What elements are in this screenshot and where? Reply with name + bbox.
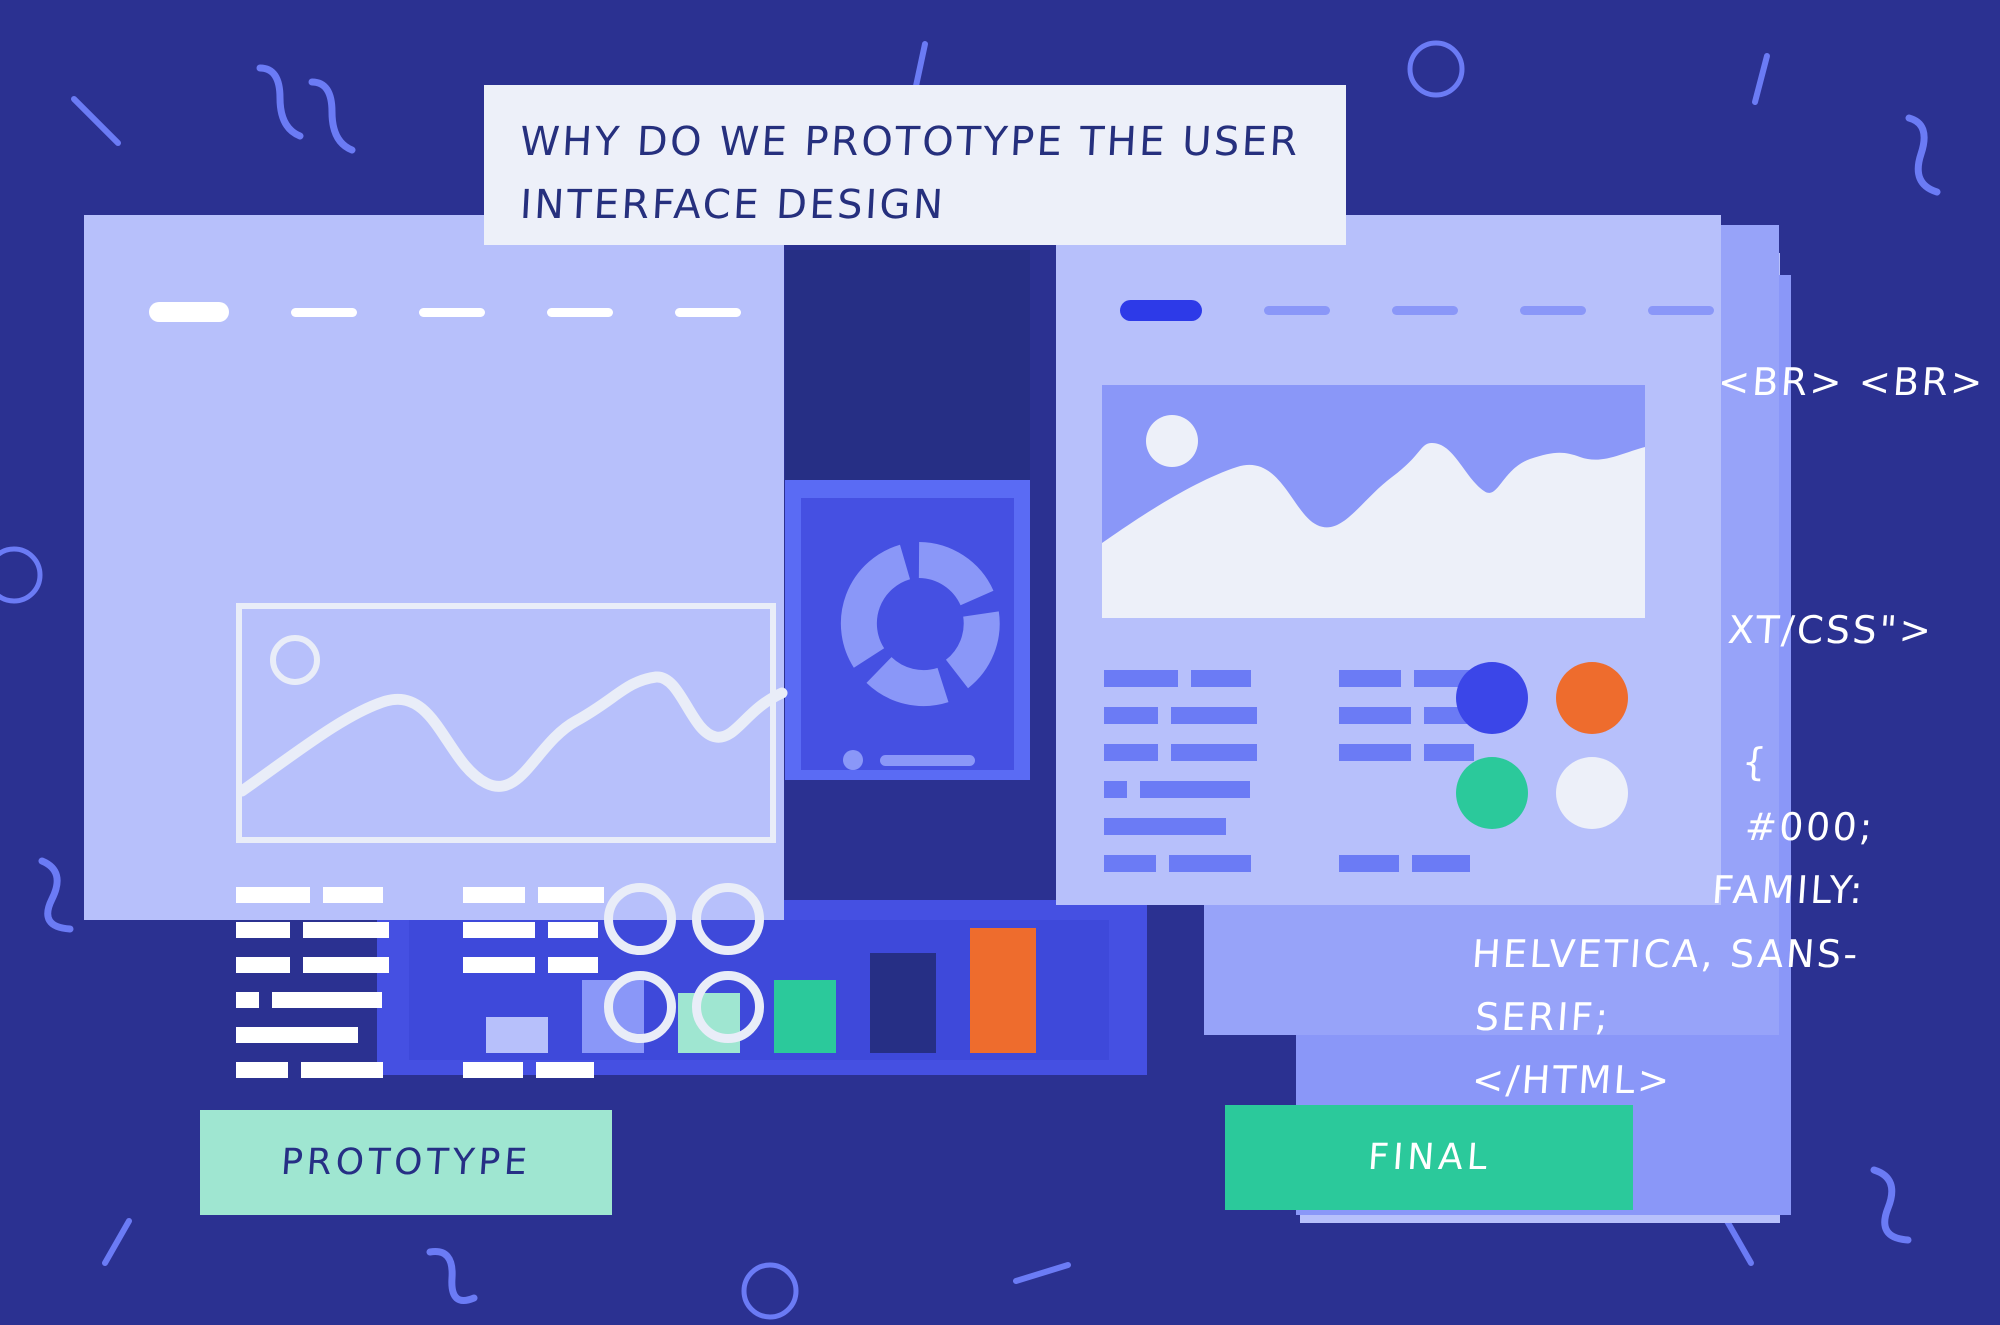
prototype-swatch-outlines [604, 883, 782, 1053]
text-segment [463, 887, 525, 903]
text-segment [1339, 855, 1399, 872]
text-segment [1171, 744, 1257, 761]
nav-link-bar[interactable] [291, 308, 357, 317]
text-segment [463, 957, 535, 973]
text-segment [548, 957, 598, 973]
circle-outline-decoration [740, 1255, 800, 1315]
text-segment [236, 922, 290, 938]
dash-decoration [1745, 52, 1781, 112]
text-line [463, 957, 604, 973]
final-hero-image [1102, 385, 1645, 618]
text-segment [1169, 855, 1251, 872]
code-line: { [1740, 740, 1770, 784]
title-card: WHY DO WE PROTOTYPE THE USER INTERFACE D… [484, 85, 1346, 245]
text-segment [1104, 670, 1178, 687]
text-line [236, 1062, 389, 1078]
text-line [1104, 855, 1257, 872]
text-block-column [236, 887, 389, 1078]
nav-active-pill[interactable] [1120, 300, 1202, 321]
prototype-navbar [149, 302, 741, 322]
donut-legend-bar [880, 755, 975, 766]
text-block-column [1104, 670, 1257, 872]
text-segment [548, 922, 598, 938]
text-line [463, 922, 604, 938]
text-segment [323, 887, 383, 903]
text-segment [536, 1062, 594, 1078]
color-swatch-royal-blue[interactable] [1456, 662, 1528, 734]
prototype-label: PROTOTYPE [200, 1110, 612, 1215]
text-segment [236, 887, 310, 903]
color-swatch-white[interactable] [1556, 757, 1628, 829]
nav-link-bar[interactable] [1520, 306, 1586, 315]
text-segment [1191, 670, 1251, 687]
squiggle-decoration [420, 1240, 490, 1310]
nav-link-bar[interactable] [419, 308, 485, 317]
nav-link-bar[interactable] [1392, 306, 1458, 315]
code-line: XT/CSS"> [1726, 608, 1935, 652]
code-line: HELVETICA, SANS- [1470, 932, 1861, 976]
prototype-label-text: PROTOTYPE [280, 1142, 533, 1183]
circle-outline[interactable] [604, 883, 676, 955]
final-color-swatches [1456, 662, 1638, 836]
final-navbar [1120, 300, 1714, 321]
donut-legend-dot [843, 750, 863, 770]
palette-swatch-emerald[interactable] [774, 980, 836, 1053]
nav-link-bar[interactable] [547, 308, 613, 317]
dash-decoration [1715, 1215, 1765, 1275]
text-segment [301, 1062, 383, 1078]
code-line: SERIF; [1473, 995, 1611, 1039]
title-line-2: INTERFACE DESIGN [518, 174, 1317, 237]
circle-outline-decoration [1405, 38, 1467, 100]
text-line [463, 1027, 604, 1043]
text-segment [303, 957, 389, 973]
text-segment [272, 992, 382, 1008]
text-line [463, 887, 604, 903]
text-segment [463, 1062, 523, 1078]
squiggle-decoration [250, 60, 370, 175]
text-line [1104, 707, 1257, 724]
nav-active-pill[interactable] [149, 302, 229, 322]
squiggle-decoration [1895, 110, 1965, 200]
text-line [463, 992, 604, 1008]
text-line [1104, 781, 1257, 798]
title-line-1: WHY DO WE PROTOTYPE THE USER [518, 111, 1317, 174]
text-segment [1140, 781, 1250, 798]
dash-decoration [1010, 1255, 1080, 1295]
text-line [236, 992, 389, 1008]
text-segment [1412, 855, 1470, 872]
final-card [1056, 215, 1721, 905]
color-swatch-emerald[interactable] [1456, 757, 1528, 829]
circle-outline-decoration [0, 540, 60, 610]
nav-link-bar[interactable] [1264, 306, 1330, 315]
text-segment [1104, 744, 1158, 761]
mountain-fill [1102, 385, 1645, 618]
dash-decoration [95, 1215, 145, 1275]
text-line [236, 1027, 389, 1043]
text-segment [538, 887, 604, 903]
text-line [1104, 744, 1257, 761]
text-segment [1104, 855, 1156, 872]
text-segment [236, 1027, 358, 1043]
circle-outline[interactable] [604, 971, 676, 1043]
nav-link-bar[interactable] [675, 308, 741, 317]
code-line: </HTML> [1470, 1058, 1673, 1102]
text-line [236, 887, 389, 903]
text-segment [303, 922, 389, 938]
code-line: #000; [1743, 805, 1876, 849]
final-label-text: FINAL [1366, 1137, 1492, 1178]
palette-swatch-navy[interactable] [870, 953, 936, 1053]
text-line [1339, 855, 1480, 872]
color-swatch-orange[interactable] [1556, 662, 1628, 734]
illustration-canvas: <BR> <BR> XT/CSS"> { #000; FAMILY: HELVE… [0, 0, 2000, 1325]
text-segment [1104, 818, 1226, 835]
prototype-text-blocks [236, 887, 604, 1078]
text-line [1104, 670, 1257, 687]
code-line: FAMILY: [1710, 868, 1866, 912]
text-segment [1104, 781, 1127, 798]
final-label: FINAL [1225, 1105, 1633, 1210]
text-line [236, 957, 389, 973]
prototype-image-placeholder [236, 603, 776, 843]
text-segment [463, 922, 535, 938]
mountain-line [236, 603, 788, 855]
text-line [236, 922, 389, 938]
text-segment [1171, 707, 1257, 724]
text-segment [1104, 707, 1158, 724]
text-segment [236, 1062, 288, 1078]
donut-chart [835, 540, 1003, 708]
center-dark-gap [785, 250, 1030, 480]
prototype-card [84, 215, 784, 920]
nav-link-bar[interactable] [1648, 306, 1714, 315]
circle-outline[interactable] [692, 971, 764, 1043]
final-text-blocks [1104, 670, 1480, 872]
text-block-column [463, 887, 604, 1078]
circle-outline[interactable] [692, 883, 764, 955]
text-segment [1339, 744, 1411, 761]
text-line [1104, 818, 1257, 835]
squiggle-decoration [1860, 1160, 1940, 1250]
code-line: <BR> <BR> [1716, 360, 1986, 404]
text-segment [1339, 707, 1411, 724]
dash-decoration [70, 95, 130, 155]
text-segment [236, 957, 290, 973]
text-line [463, 1062, 604, 1078]
text-segment [1339, 670, 1401, 687]
text-segment [236, 992, 259, 1008]
palette-swatch-orange[interactable] [970, 928, 1036, 1053]
